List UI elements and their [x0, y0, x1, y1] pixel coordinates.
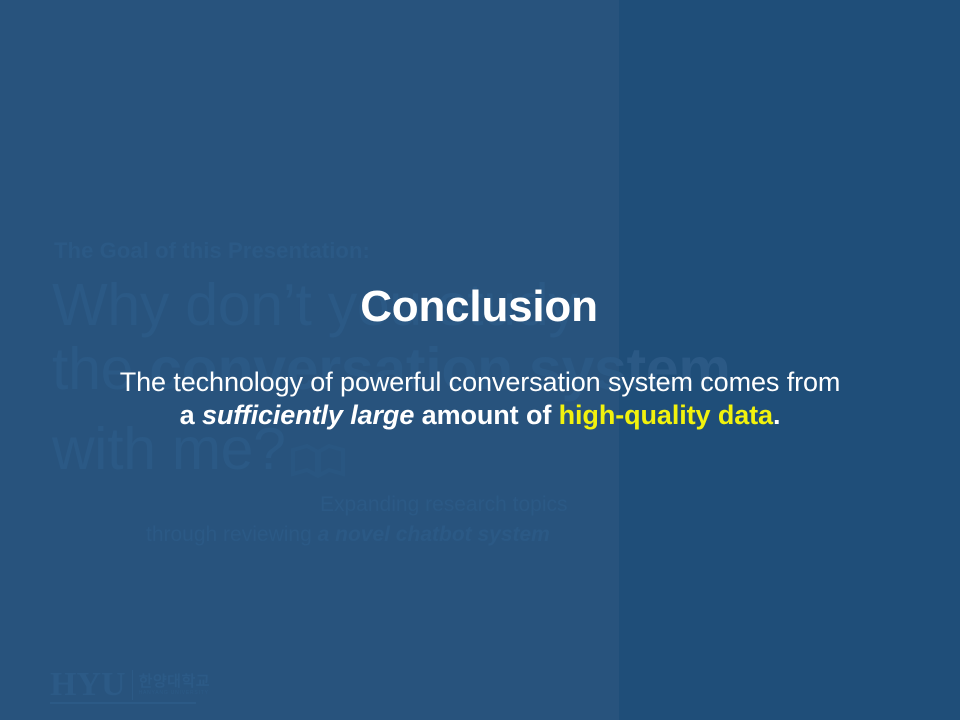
slide-body-text: The technology of powerful conversation …	[0, 366, 960, 432]
presentation-slide: The Goal of this Presentation: Why don’t…	[0, 0, 960, 720]
body-line-2-suffix: .	[773, 400, 780, 430]
body-line-2-highlight: high-quality data	[559, 400, 773, 430]
body-line-1: The technology of powerful conversation …	[120, 367, 841, 397]
page-title: Conclusion	[0, 281, 958, 333]
body-line-2-middle: amount of	[414, 400, 558, 430]
body-line-2: a sufficiently large amount of high-qual…	[0, 399, 960, 432]
body-line-2-emphasis: sufficiently large	[202, 400, 414, 430]
body-line-2-prefix: a	[180, 400, 202, 430]
slide-content: Conclusion The technology of powerful co…	[0, 0, 960, 720]
